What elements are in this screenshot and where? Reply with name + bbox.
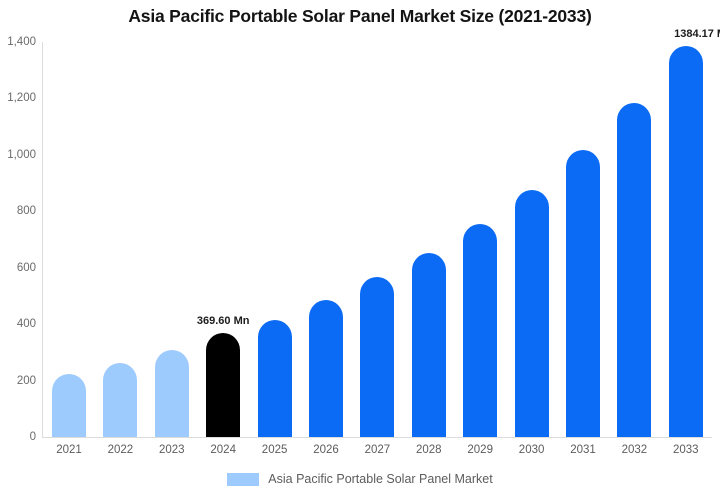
bar-chart: Asia Pacific Portable Solar Panel Market… xyxy=(0,0,720,500)
x-axis-tick-label-2031: 2031 xyxy=(557,444,609,456)
x-axis-tick-label-2033: 2033 xyxy=(660,444,712,456)
bar-group-2022[interactable] xyxy=(103,42,137,437)
x-axis-tick-label-2023: 2023 xyxy=(146,444,198,456)
bar-2028[interactable] xyxy=(412,253,446,437)
bar-group-2024[interactable]: 369.60 Mn xyxy=(206,42,240,437)
y-axis-tick-label: 0 xyxy=(0,431,36,443)
x-axis-tick-label-2029: 2029 xyxy=(454,444,506,456)
x-axis-tick-label-2030: 2030 xyxy=(506,444,558,456)
x-axis-tick-label-2022: 2022 xyxy=(94,444,146,456)
bar-group-2026[interactable] xyxy=(309,42,343,437)
x-axis-tick-label-2026: 2026 xyxy=(300,444,352,456)
x-axis: 2021202220232024202520262027202820292030… xyxy=(42,440,710,462)
bar-2031[interactable] xyxy=(566,150,600,437)
legend-swatch-asia-pacific-portable-solar-panel-market xyxy=(227,473,259,486)
bar-2030[interactable] xyxy=(515,190,549,437)
bar-group-2032[interactable] xyxy=(617,42,651,437)
bar-2022[interactable] xyxy=(103,363,137,437)
bar-2027[interactable] xyxy=(360,277,394,437)
bar-group-2031[interactable] xyxy=(566,42,600,437)
bar-group-2023[interactable] xyxy=(155,42,189,437)
bar-2029[interactable] xyxy=(463,224,497,437)
bar-value-label-2033: 1384.17 Mn xyxy=(674,28,720,40)
x-axis-line xyxy=(42,437,712,438)
bar-2023[interactable] xyxy=(155,350,189,437)
x-axis-tick-label-2032: 2032 xyxy=(608,444,660,456)
x-axis-tick-label-2021: 2021 xyxy=(43,444,95,456)
bar-value-label-2024: 369.60 Mn xyxy=(197,315,250,327)
y-axis-tick-label: 1,400 xyxy=(0,36,36,48)
bar-group-2028[interactable] xyxy=(412,42,446,437)
y-axis-tick-label: 600 xyxy=(0,262,36,274)
bar-2033[interactable] xyxy=(669,46,703,437)
x-axis-tick-label-2028: 2028 xyxy=(403,444,455,456)
chart-title: Asia Pacific Portable Solar Panel Market… xyxy=(0,6,720,27)
bar-group-2029[interactable] xyxy=(463,42,497,437)
plot-area: 369.60 Mn1384.17 Mn xyxy=(42,42,710,437)
y-axis: 02004006008001,0001,2001,400 xyxy=(0,42,36,437)
bar-2025[interactable] xyxy=(258,320,292,437)
chart-legend: Asia Pacific Portable Solar Panel Market xyxy=(0,472,720,486)
bar-2021[interactable] xyxy=(52,374,86,437)
x-axis-tick-label-2027: 2027 xyxy=(351,444,403,456)
y-axis-tick-label: 1,000 xyxy=(0,149,36,161)
bar-group-2033[interactable]: 1384.17 Mn xyxy=(669,42,703,437)
bar-group-2030[interactable] xyxy=(515,42,549,437)
bar-2032[interactable] xyxy=(617,103,651,437)
bar-2024[interactable] xyxy=(206,333,240,437)
x-axis-tick-label-2024: 2024 xyxy=(197,444,249,456)
y-axis-tick-label: 400 xyxy=(0,318,36,330)
bar-group-2027[interactable] xyxy=(360,42,394,437)
bar-group-2021[interactable] xyxy=(52,42,86,437)
y-axis-tick-label: 1,200 xyxy=(0,92,36,104)
bar-group-2025[interactable] xyxy=(258,42,292,437)
legend-label-asia-pacific-portable-solar-panel-market: Asia Pacific Portable Solar Panel Market xyxy=(268,472,492,486)
bar-2026[interactable] xyxy=(309,300,343,437)
y-axis-tick-label: 800 xyxy=(0,205,36,217)
x-axis-tick-label-2025: 2025 xyxy=(249,444,301,456)
y-axis-tick-label: 200 xyxy=(0,375,36,387)
